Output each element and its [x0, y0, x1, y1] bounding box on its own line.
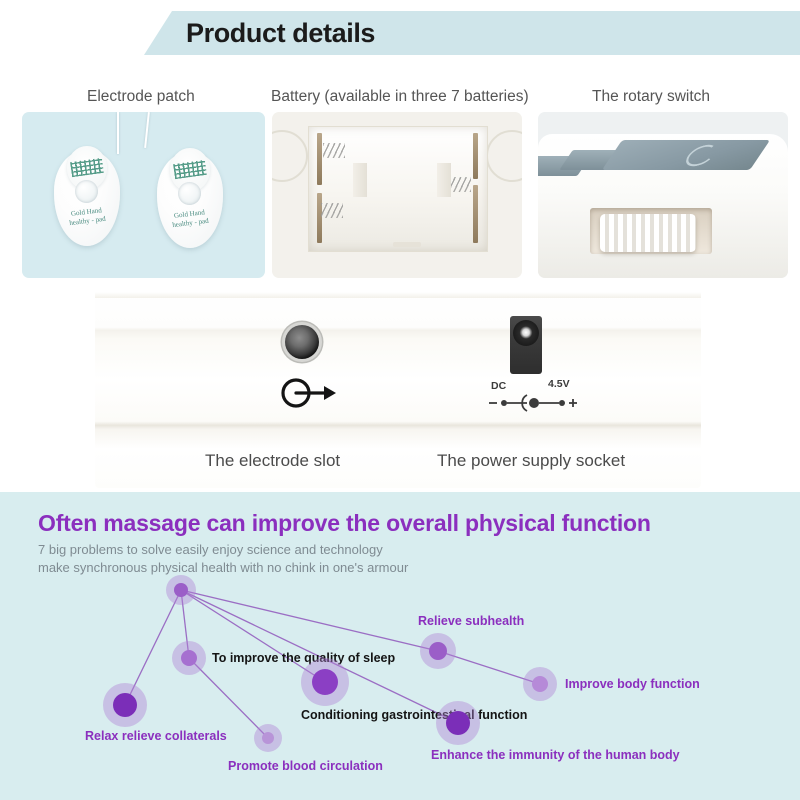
battery-contact [317, 133, 322, 185]
graph-node-core [174, 583, 188, 597]
graph-node-hub[interactable] [166, 575, 196, 605]
caption-battery: Battery (available in three 7 batteries) [271, 88, 529, 106]
graph-node-core [532, 676, 548, 692]
rotary-switch-photo [538, 112, 788, 278]
graph-node-label-sleep: To improve the quality of sleep [212, 651, 395, 665]
graph-node-label-gastro: Conditioning gastrointestinal function [301, 708, 527, 722]
pad-brand-text: Gold Hand healthy - pad [156, 206, 224, 232]
caption-electrode-patch: Electrode patch [87, 88, 195, 106]
graph-node-sleep[interactable] [172, 641, 206, 675]
electrode-pad: Gold Hand healthy - pad [54, 150, 120, 246]
housing-ring [486, 130, 522, 182]
pad-wire [117, 112, 119, 154]
caption-electrode-slot: The electrode slot [205, 451, 340, 471]
dc-power-socket-icon[interactable] [510, 316, 542, 374]
graph-node-circulation[interactable] [254, 724, 282, 752]
housing-ring [272, 130, 308, 182]
graph-node-core [312, 669, 338, 695]
graph-node-core [429, 642, 447, 660]
device-body [538, 134, 788, 278]
battery-divider [353, 163, 367, 197]
electrode-pad: Gold Hand healthy - pad [157, 152, 223, 248]
benefits-section: Often massage can improve the overall ph… [0, 492, 800, 800]
electrode-jack[interactable] [285, 325, 319, 359]
battery-contact [317, 193, 322, 243]
device-display-panel [602, 140, 770, 170]
benefits-node-graph: To improve the quality of sleepRelieve s… [0, 580, 800, 800]
pad-brand-text: Gold Hand healthy - pad [53, 204, 121, 230]
benefits-subtitle-line-2: make synchronous physical health with no… [38, 560, 408, 575]
graph-node-label-collaterals: Relax relieve collaterals [85, 729, 227, 743]
voltage-label: 4.5V [548, 378, 570, 390]
battery-spring-icon [449, 177, 471, 192]
graph-node-collaterals[interactable] [103, 683, 147, 727]
graph-node-label-immunity: Enhance the immunity of the human body [431, 748, 680, 762]
battery-spring-icon [323, 143, 345, 158]
pad-snap-icon [178, 182, 201, 205]
graph-node-subhealth[interactable] [420, 633, 456, 669]
caption-rotary-switch: The rotary switch [592, 88, 710, 106]
device-top-lip [95, 292, 701, 298]
graph-node-label-circulation: Promote blood circulation [228, 759, 383, 773]
dc-label: DC [491, 380, 506, 392]
graph-node-core [181, 650, 197, 666]
benefits-subtitle-line-1: 7 big problems to solve easily enjoy sci… [38, 542, 383, 557]
battery-spring-icon [321, 203, 343, 218]
benefits-title: Often massage can improve the overall ph… [38, 510, 651, 537]
rotary-wheel[interactable] [600, 214, 696, 252]
pad-mesh-icon [173, 160, 207, 179]
caption-power-supply-socket: The power supply socket [437, 451, 625, 471]
graph-node-gastro[interactable] [301, 658, 349, 706]
battery-contact [473, 185, 478, 243]
polarity-diagram-icon [487, 392, 579, 414]
battery-well [308, 126, 488, 252]
graph-node-immunity[interactable] [436, 701, 480, 745]
pad-snap-icon [75, 180, 98, 203]
graph-node-core [446, 711, 470, 735]
graph-node-core [113, 693, 137, 717]
battery-compartment-photo [272, 112, 522, 278]
pad-wire [144, 112, 150, 148]
graph-node-body-function[interactable] [523, 667, 557, 701]
header-band: Product details [0, 0, 800, 56]
output-arrow-icon [278, 376, 338, 410]
graph-node-label-subhealth: Relieve subhealth [418, 614, 524, 628]
pad-mesh-icon [70, 158, 104, 177]
graph-edge [181, 590, 438, 651]
electrode-patch-photo: Gold Hand healthy - pad Gold Hand health… [22, 112, 265, 278]
battery-contact [473, 133, 478, 179]
battery-divider [437, 163, 451, 197]
page-title: Product details [186, 16, 375, 50]
graph-node-core [262, 732, 274, 744]
battery-latch [393, 242, 421, 247]
graph-node-label-body-function: Improve body function [565, 677, 700, 691]
